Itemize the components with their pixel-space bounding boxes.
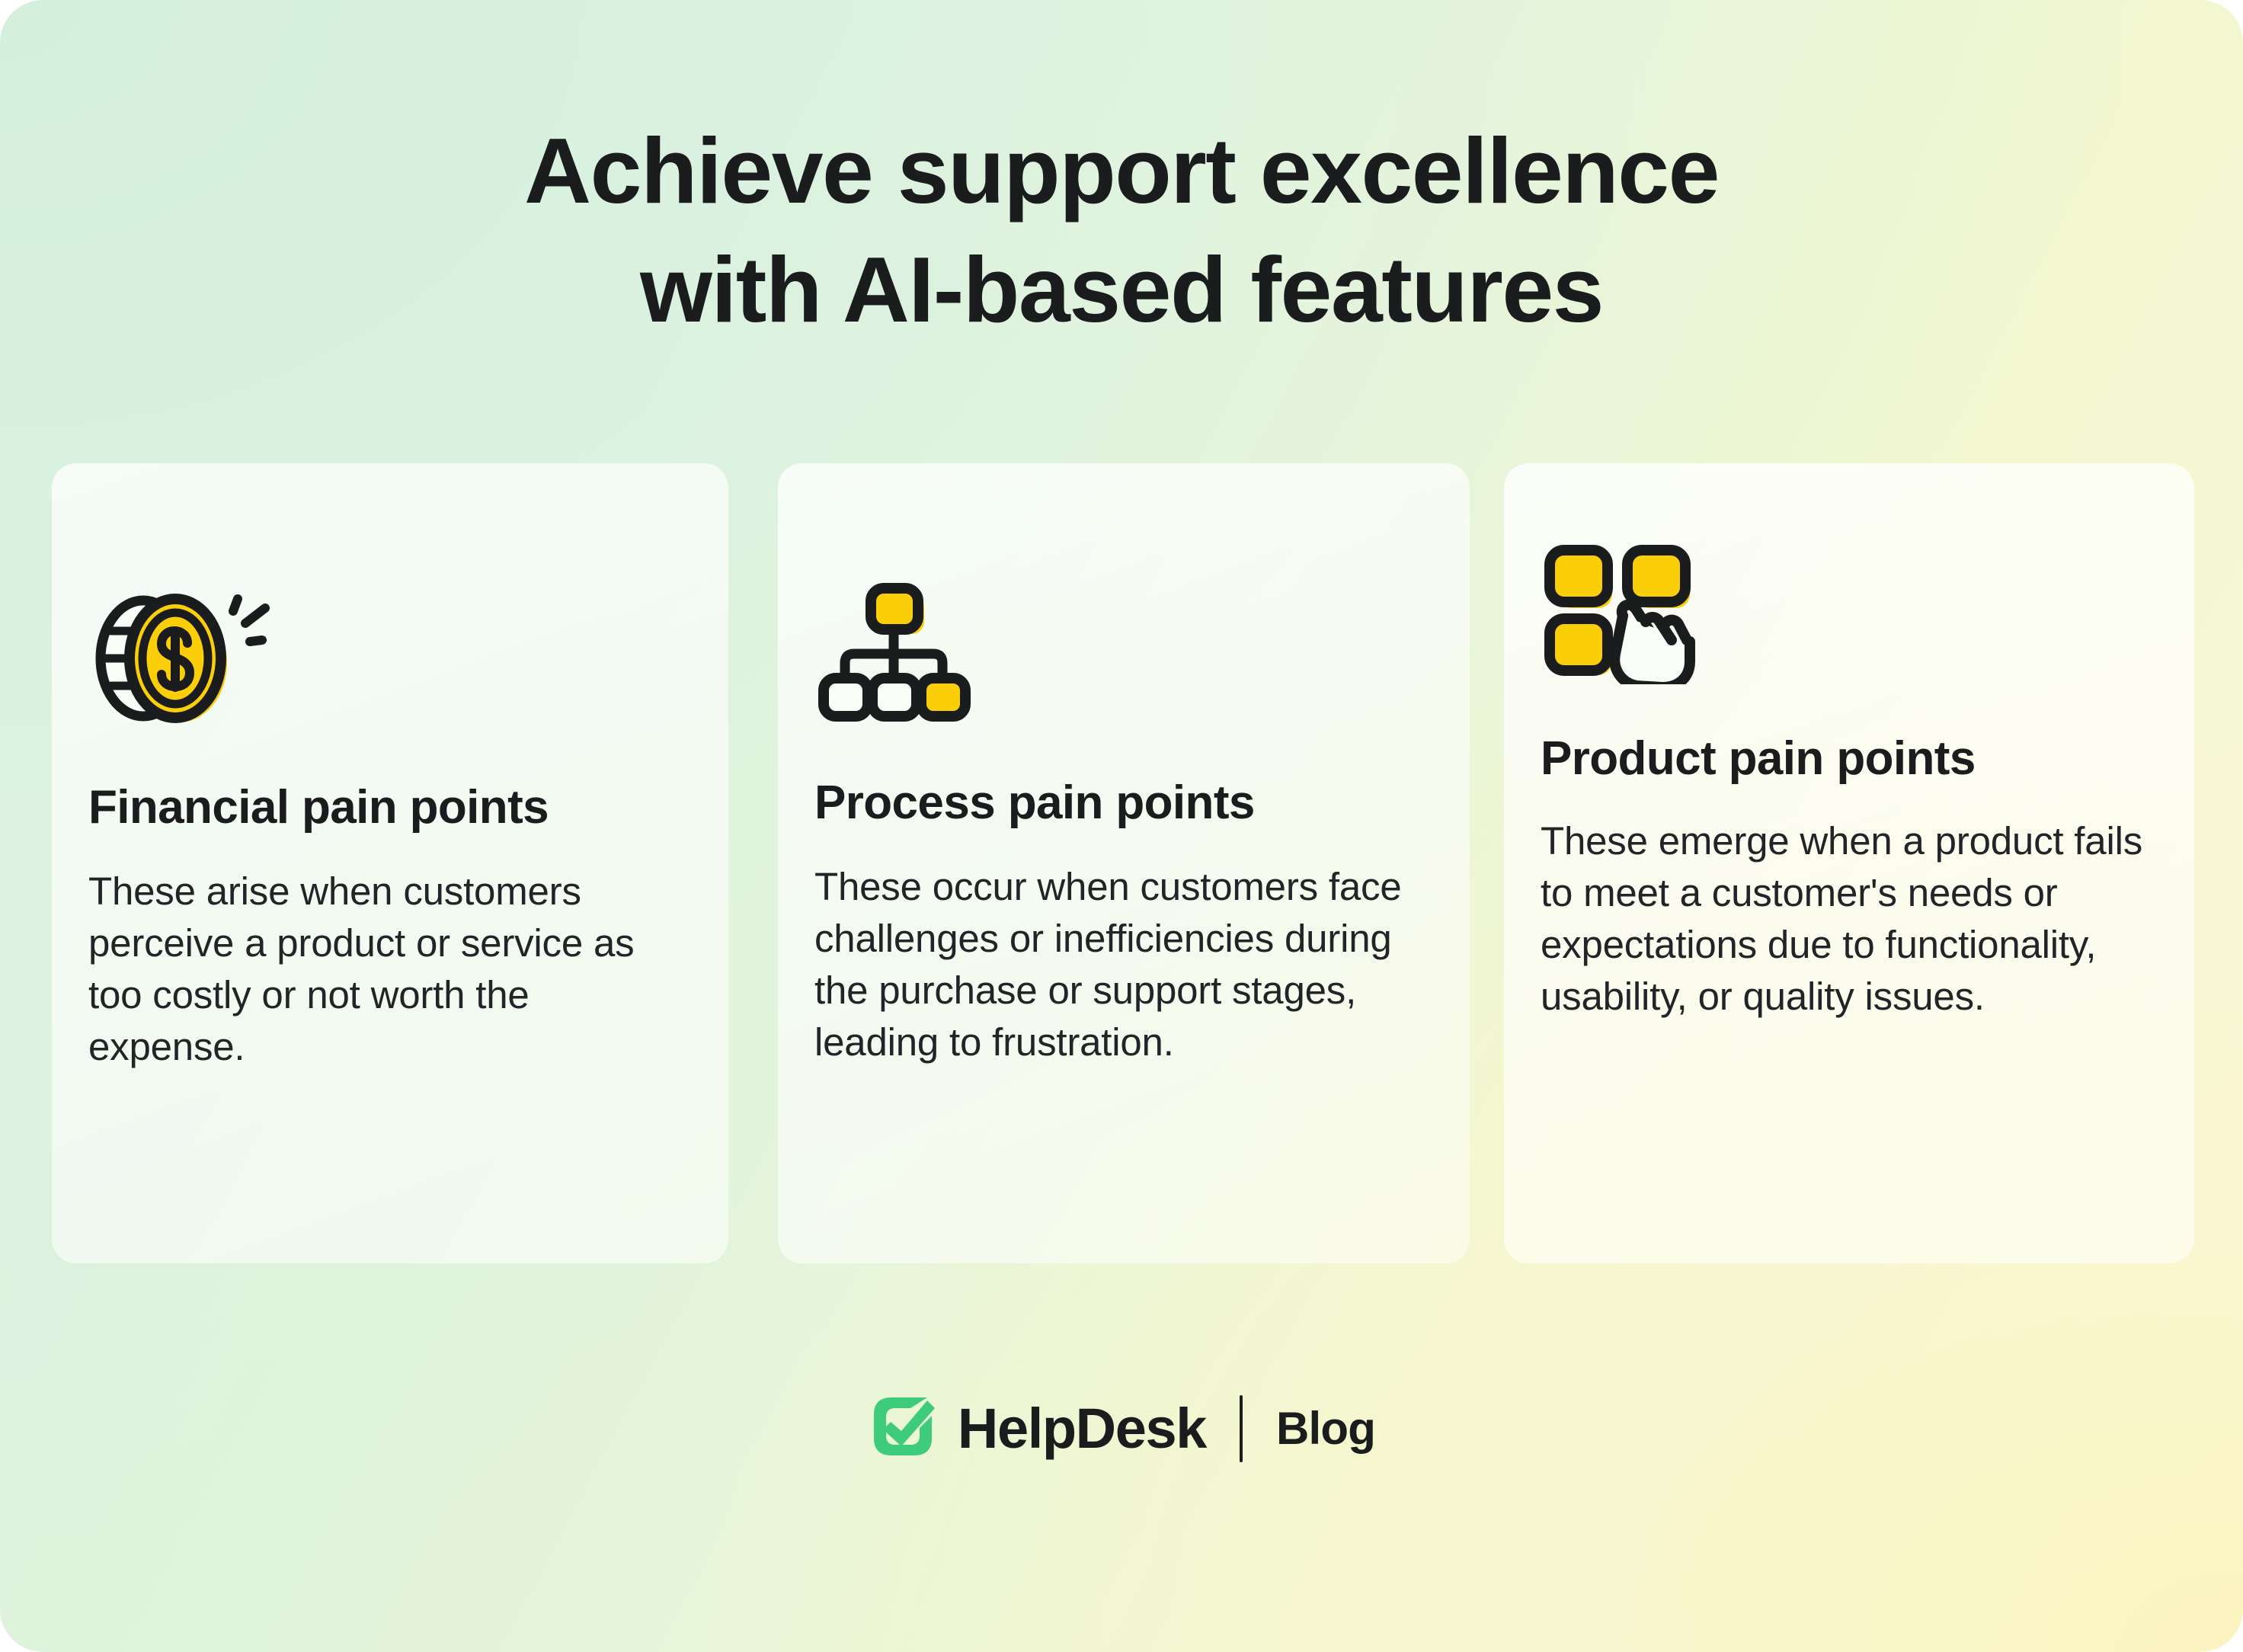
footer-divider <box>1240 1395 1243 1462</box>
pain-point-card-product: Product pain points These emerge when a … <box>1504 463 2194 1263</box>
card-body-text: These emerge when a product fails to mee… <box>1541 815 2158 1022</box>
org-chart-hierarchy-icon <box>814 578 1433 722</box>
helpdesk-logo[interactable]: HelpDesk <box>868 1391 1206 1465</box>
pain-point-card-financial: Financial pain points These arise when c… <box>52 463 728 1263</box>
card-title: Product pain points <box>1541 733 2158 785</box>
infographic-canvas: Achieve support excellence with AI-based… <box>0 0 2243 1652</box>
card-title: Process pain points <box>814 777 1433 829</box>
card-body-text: These arise when customers perceive a pr… <box>88 866 692 1072</box>
grid-tiles-pointing-hand-icon <box>1541 539 2158 684</box>
card-body-text: These occur when customers face challeng… <box>814 861 1433 1068</box>
coin-dollar-icon <box>88 584 692 728</box>
footer-section-label: Blog <box>1276 1406 1375 1452</box>
footer-brand-bar: HelpDesk Blog <box>0 1391 2243 1465</box>
brand-name: HelpDesk <box>958 1401 1206 1457</box>
page-title-line-2: with AI-based features <box>0 230 2243 349</box>
page-title: Achieve support excellence with AI-based… <box>0 111 2243 349</box>
page-title-line-1: Achieve support excellence <box>0 111 2243 230</box>
card-title: Financial pain points <box>88 782 692 834</box>
helpdesk-check-logo-icon <box>868 1391 938 1465</box>
pain-point-card-process: Process pain points These occur when cus… <box>778 463 1470 1263</box>
